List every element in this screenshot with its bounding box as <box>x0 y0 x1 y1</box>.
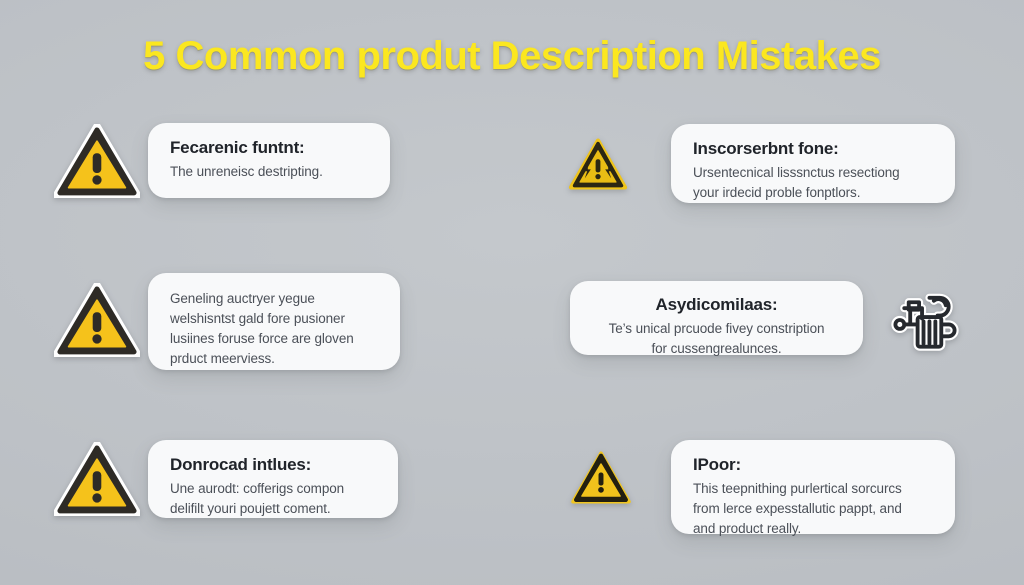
warning-triangle-icon <box>54 442 140 516</box>
card-item-2[interactable]: Inscorserbnt fone: Ursentecnical lisssnc… <box>671 124 955 203</box>
card-title: Fecarenic funtnt: <box>170 136 370 159</box>
card-title: Inscorserbnt fone: <box>693 137 935 160</box>
infographic-poster: 5 Common produt Description Mistakes Fec… <box>0 0 1024 585</box>
card-body-line: and product really. <box>693 519 935 539</box>
card-body: This teepnithing purlertical sorcurcs fr… <box>693 479 935 539</box>
electrical-hazard-triangle-icon <box>568 137 628 191</box>
card-body-line: This teepnithing purlertical sorcurcs <box>693 479 935 499</box>
card-body-line: welshisntst gald fore pusioner <box>170 309 380 329</box>
card-body-line: delifilt youri poujett coment. <box>170 499 378 519</box>
card-item-6[interactable]: IPoor: This teepnithing purlertical sorc… <box>671 440 955 534</box>
card-item-1[interactable]: Fecarenic funtnt: The unreneisc destript… <box>148 123 390 198</box>
card-body: Une aurodt: cofferigs compon delifilt yo… <box>170 479 378 519</box>
card-title: Asydicomilaas: <box>586 293 847 316</box>
card-body-line: for cussengrealunces. <box>586 339 847 359</box>
card-body: Ursentecnical lisssnctus resectiong your… <box>693 163 935 203</box>
card-body-line: your irdecid proble fonptlors. <box>693 183 935 203</box>
card-body: Geneling auctryer yegue welshisntst gald… <box>170 289 380 369</box>
page-title: 5 Common produt Description Mistakes <box>143 30 881 82</box>
warning-triangle-icon <box>54 124 140 198</box>
warning-triangle-icon <box>54 283 140 357</box>
card-item-4[interactable]: Asydicomilaas: Te’s unical prcuode fivey… <box>570 281 863 355</box>
title-bar: 5 Common produt Description Mistakes <box>0 30 1024 82</box>
card-title: IPoor: <box>693 453 935 476</box>
card-body: The unreneisc destripting. <box>170 162 370 182</box>
card-item-5[interactable]: Donrocad intlues: Une aurodt: cofferigs … <box>148 440 398 518</box>
card-body: Te’s unical prcuode fivey constription f… <box>586 319 847 359</box>
card-body-line: from lerce expesstallutic pappt, and <box>693 499 935 519</box>
card-body-line: lusiines foruse force are gloven <box>170 329 380 349</box>
card-body-line: The unreneisc destripting. <box>170 162 370 182</box>
card-body-line: Une aurodt: cofferigs compon <box>170 479 378 499</box>
card-body-line: Te’s unical prcuode fivey constription <box>586 319 847 339</box>
card-body-line: Geneling auctryer yegue <box>170 289 380 309</box>
card-item-3[interactable]: Geneling auctryer yegue welshisntst gald… <box>148 273 400 370</box>
card-body-line: Ursentecnical lisssnctus resectiong <box>693 163 935 183</box>
card-title: Donrocad intlues: <box>170 453 378 476</box>
cloud-data-server-icon <box>888 283 962 357</box>
card-body-line: prduct meerviess. <box>170 349 380 369</box>
warning-triangle-icon <box>570 450 632 505</box>
